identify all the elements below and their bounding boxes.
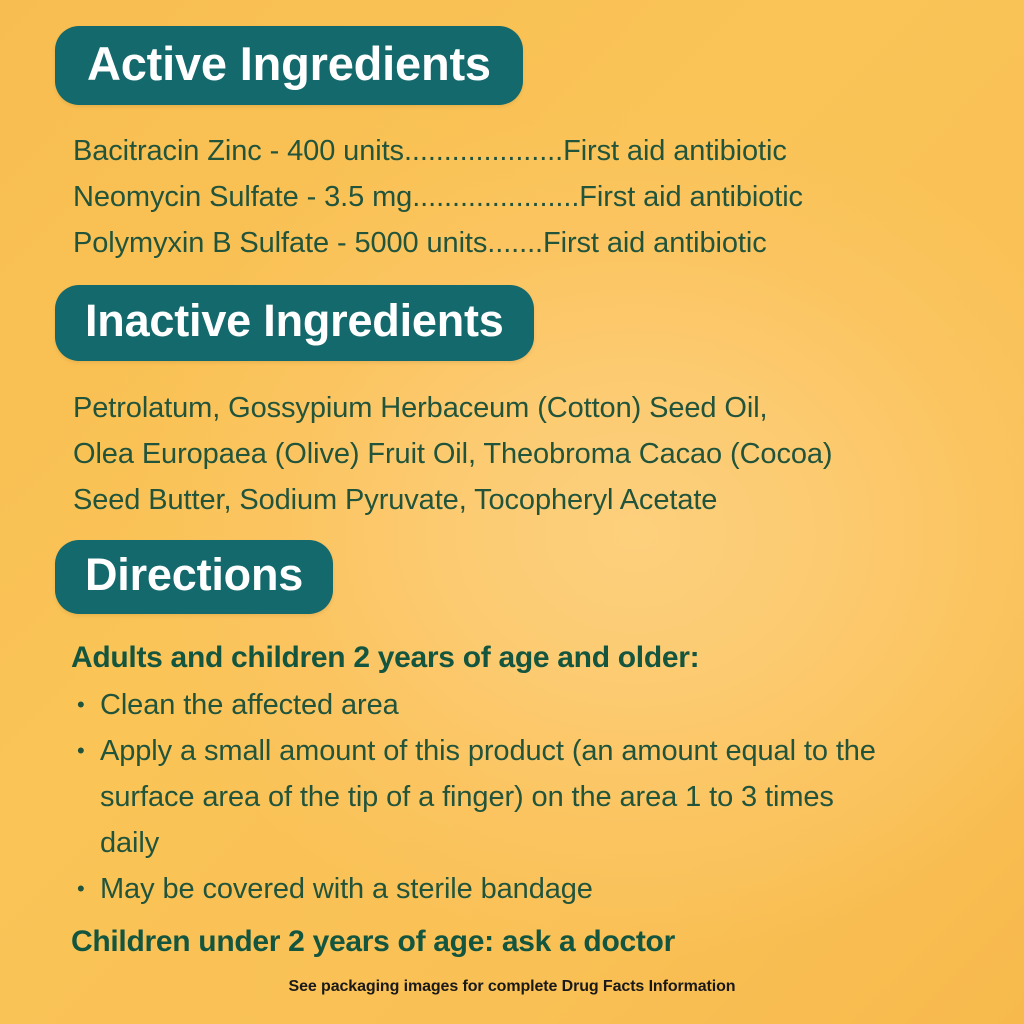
packaging-footer-note: See packaging images for complete Drug F… — [0, 978, 1024, 996]
bullet-dot-icon: • — [77, 728, 85, 774]
directions-bullet-list: • Clean the affected area • Apply a smal… — [71, 682, 971, 912]
inactive-ingredient-line: Petrolatum, Gossypium Herbaceum (Cotton)… — [73, 385, 832, 431]
directions-age-heading-adults: Adults and children 2 years of age and o… — [71, 636, 971, 679]
inactive-ingredients-list: Petrolatum, Gossypium Herbaceum (Cotton)… — [73, 385, 832, 523]
drug-facts-panel: Active Ingredients Bacitracin Zinc - 400… — [0, 0, 1024, 1024]
directions-content: Adults and children 2 years of age and o… — [71, 636, 971, 963]
directions-bullet-text: May be covered with a sterile bandage — [100, 873, 593, 905]
directions-bullet-item: • Apply a small amount of this product (… — [71, 728, 899, 866]
inactive-ingredient-line: Seed Butter, Sodium Pyruvate, Tocopheryl… — [73, 477, 832, 523]
directions-bullet-text: Apply a small amount of this product (an… — [100, 735, 876, 859]
inactive-ingredients-heading-pill: Inactive Ingredients — [55, 285, 534, 361]
directions-bullet-item: • May be covered with a sterile bandage — [71, 866, 899, 912]
bullet-dot-icon: • — [77, 866, 85, 912]
directions-bullet-item: • Clean the affected area — [71, 682, 899, 728]
active-ingredients-heading-pill: Active Ingredients — [55, 26, 523, 105]
active-ingredients-list: Bacitracin Zinc - 400 units.............… — [73, 128, 803, 266]
active-ingredient-line: Bacitracin Zinc - 400 units.............… — [73, 128, 803, 174]
directions-age-heading-children: Children under 2 years of age: ask a doc… — [71, 920, 971, 963]
directions-bullet-text: Clean the affected area — [100, 689, 399, 721]
bullet-dot-icon: • — [77, 682, 85, 728]
active-ingredient-line: Neomycin Sulfate - 3.5 mg...............… — [73, 174, 803, 220]
active-ingredient-line: Polymyxin B Sulfate - 5000 units.......F… — [73, 220, 803, 266]
directions-heading-pill: Directions — [55, 540, 333, 614]
inactive-ingredient-line: Olea Europaea (Olive) Fruit Oil, Theobro… — [73, 431, 832, 477]
